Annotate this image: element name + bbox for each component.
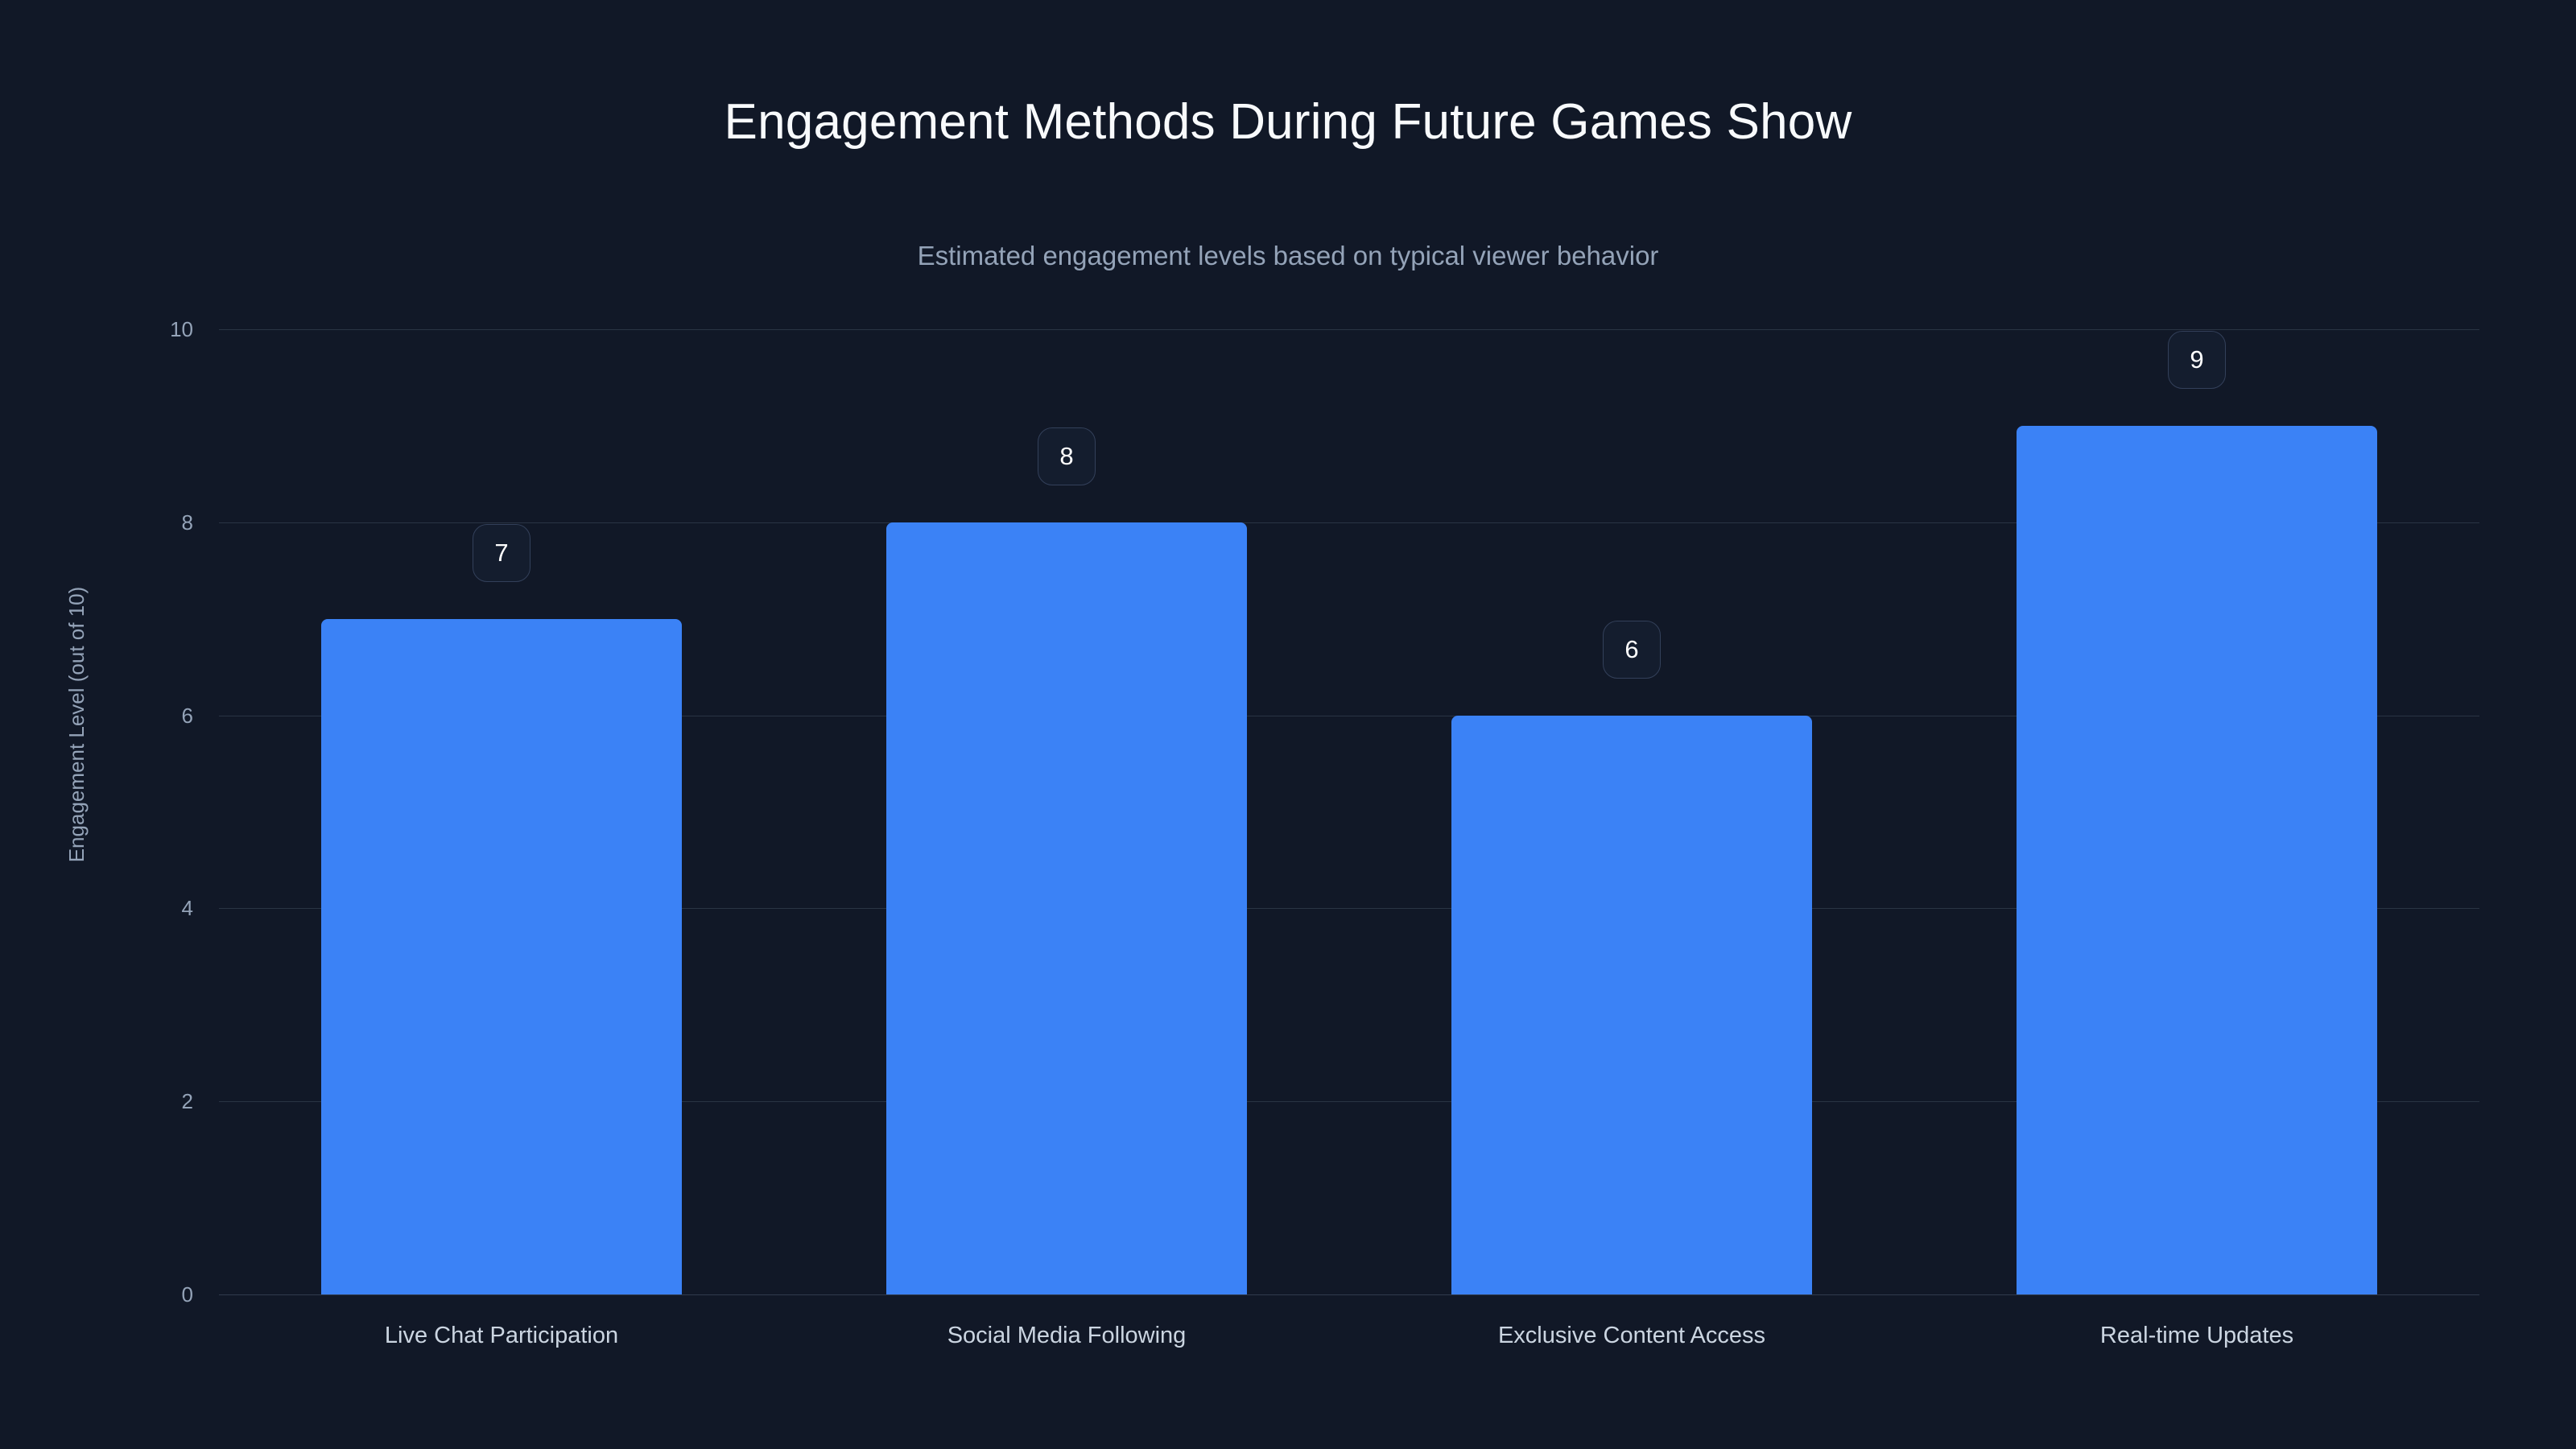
bar[interactable] — [321, 619, 682, 1294]
bar[interactable] — [886, 522, 1247, 1294]
y-axis-tick-label: 10 — [170, 319, 193, 340]
plot-area — [219, 329, 2479, 1294]
y-axis-tick-label: 8 — [182, 512, 193, 533]
bar-value-badge: 8 — [1038, 427, 1096, 485]
y-axis-tick-label: 2 — [182, 1091, 193, 1112]
y-axis-title: Engagement Level (out of 10) — [66, 587, 87, 863]
chart-title: Engagement Methods During Future Games S… — [0, 95, 2576, 150]
bar[interactable] — [1451, 716, 1812, 1294]
gridline — [219, 1294, 2479, 1295]
x-axis-tick-label: Social Media Following — [784, 1324, 1349, 1348]
x-axis-tick-label: Exclusive Content Access — [1349, 1324, 1914, 1348]
bar-value-badge: 6 — [1603, 621, 1661, 679]
y-axis-tick-label: 6 — [182, 705, 193, 726]
x-axis-tick-label: Real-time Updates — [1914, 1324, 2479, 1348]
y-axis-tick-label: 0 — [182, 1284, 193, 1305]
bar-value-badge: 7 — [473, 524, 530, 582]
bar-value-badge: 9 — [2168, 331, 2226, 389]
x-axis-tick-label: Live Chat Participation — [219, 1324, 784, 1348]
bar-chart: Engagement Methods During Future Games S… — [0, 0, 2576, 1449]
y-axis-tick-label: 4 — [182, 898, 193, 919]
chart-subtitle: Estimated engagement levels based on typ… — [0, 242, 2576, 270]
gridline — [219, 329, 2479, 330]
bar[interactable] — [2017, 426, 2377, 1294]
